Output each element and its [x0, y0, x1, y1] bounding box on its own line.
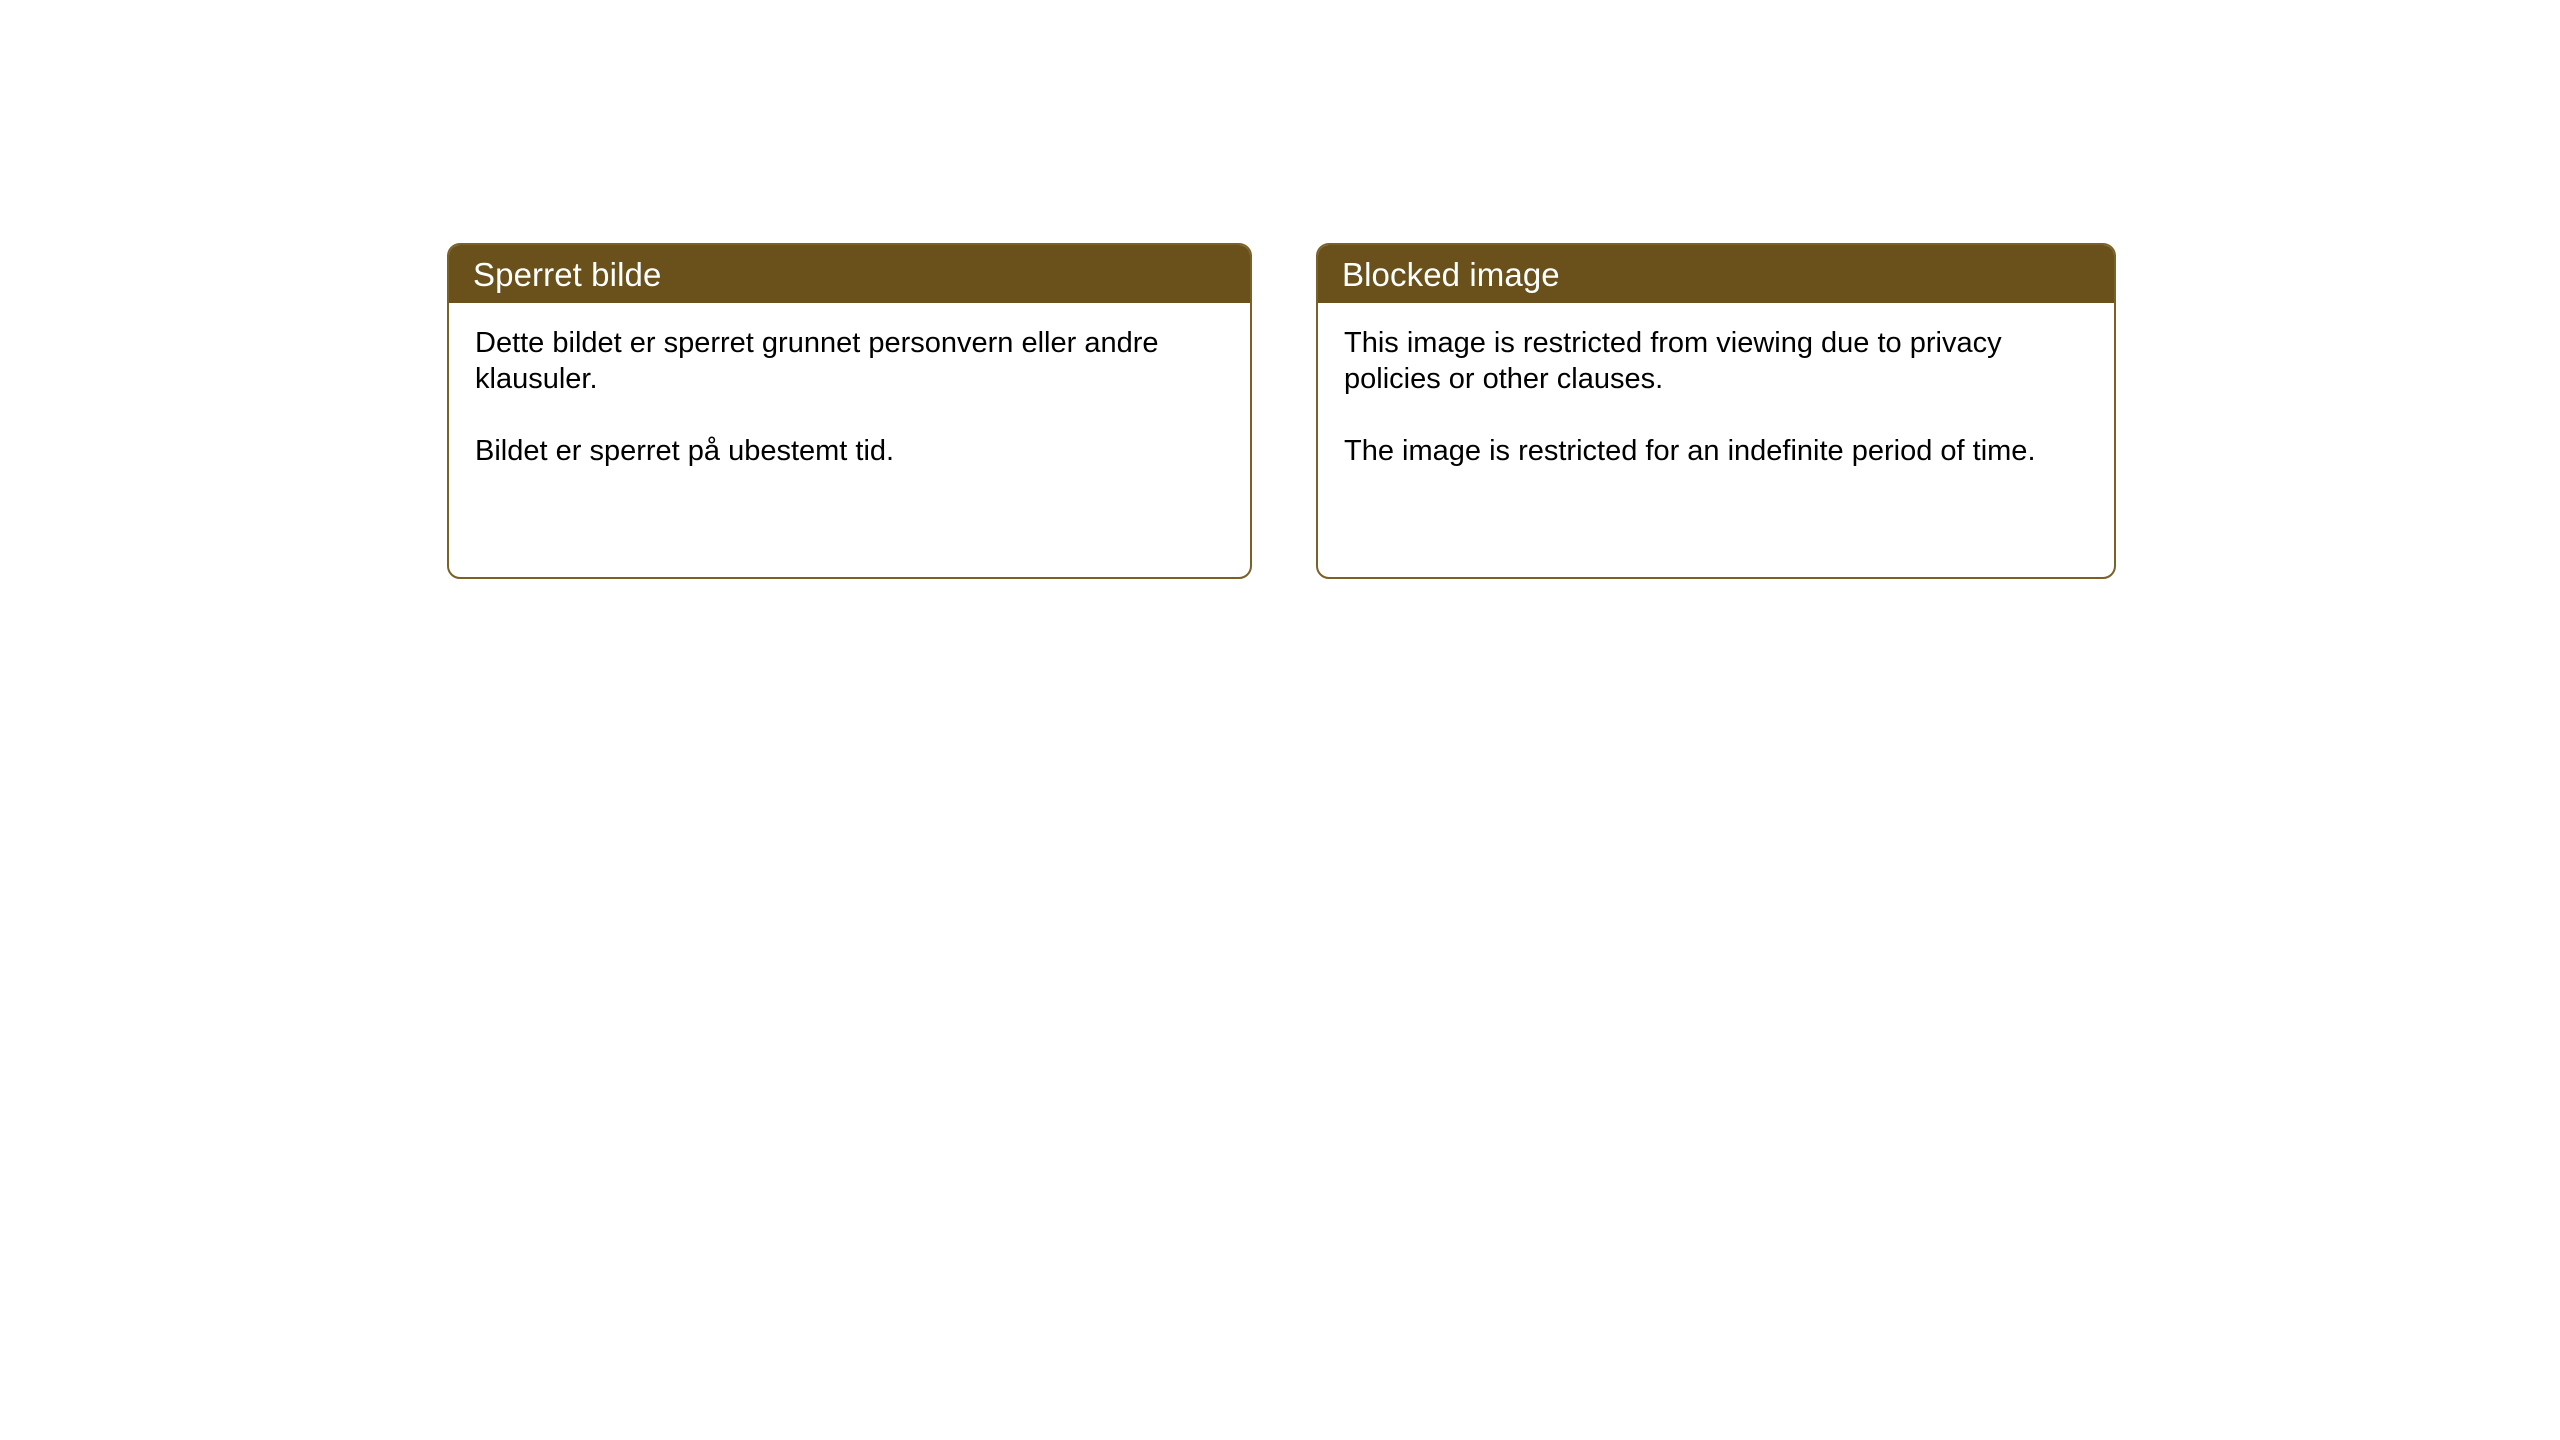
card-title-norwegian: Sperret bilde: [473, 258, 661, 291]
card-paragraph-secondary-norwegian: Bildet er sperret på ubestemt tid.: [475, 433, 1224, 469]
card-paragraph-primary-norwegian: Dette bildet er sperret grunnet personve…: [475, 325, 1224, 397]
card-title-english: Blocked image: [1342, 258, 1560, 291]
blocked-image-card-norwegian: Sperret bilde Dette bildet er sperret gr…: [447, 243, 1252, 579]
card-body-norwegian: Dette bildet er sperret grunnet personve…: [449, 303, 1250, 577]
card-paragraph-secondary-english: The image is restricted for an indefinit…: [1344, 433, 2088, 469]
card-paragraph-primary-english: This image is restricted from viewing du…: [1344, 325, 2088, 397]
blocked-image-notice-group: Sperret bilde Dette bildet er sperret gr…: [447, 243, 2116, 579]
blocked-image-card-english: Blocked image This image is restricted f…: [1316, 243, 2116, 579]
card-header-norwegian: Sperret bilde: [449, 245, 1250, 303]
card-body-english: This image is restricted from viewing du…: [1318, 303, 2114, 577]
card-header-english: Blocked image: [1318, 245, 2114, 303]
